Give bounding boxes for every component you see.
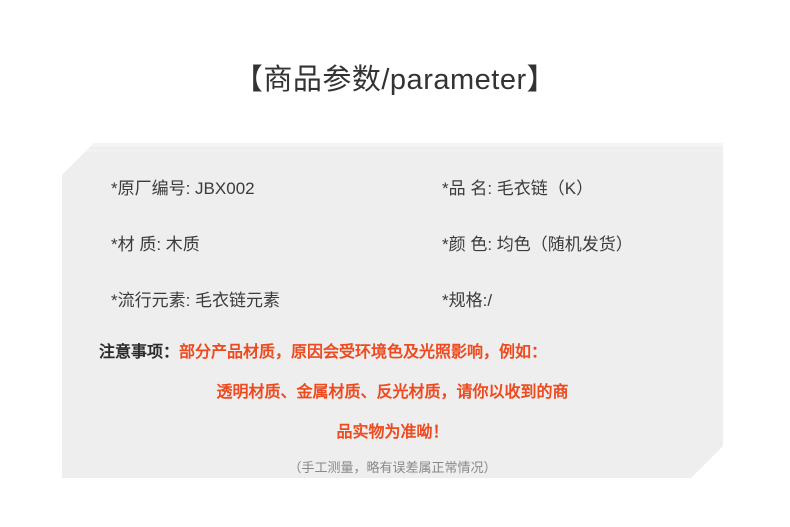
notice-text-line-1: 部分产品材质，原因会受环境色及光照影响，例如： — [179, 344, 547, 361]
product-parameter-page: 【商品参数/parameter】 *原厂编号: JBX002 *品 名: 毛衣链… — [0, 0, 790, 527]
notice-text-line-2: 透明材质、金属材质、反光材质，请你以收到的商 — [62, 373, 723, 413]
measurement-disclaimer: （手工测量，略有误差属正常情况） — [62, 457, 723, 479]
notice-label: 注意事项： — [99, 344, 179, 361]
spec-manufacturer-number: *原厂编号: JBX002 — [111, 177, 255, 201]
notice-text-line-3: 品实物为准呦！ — [62, 413, 723, 453]
spec-popular-element: *流行元素: 毛衣链元素 — [111, 289, 280, 313]
specification-grid: *原厂编号: JBX002 *品 名: 毛衣链（K） *材 质: 木质 *颜 色… — [62, 143, 723, 329]
spec-product-name: *品 名: 毛衣链（K） — [442, 177, 593, 201]
page-title: 【商品参数/parameter】 — [0, 58, 790, 102]
spec-color: *颜 色: 均色（随机发货） — [442, 233, 633, 257]
spec-material: *材 质: 木质 — [111, 233, 200, 257]
notice-block: 注意事项：部分产品材质，原因会受环境色及光照影响，例如： 透明材质、金属材质、反… — [62, 333, 723, 479]
parameter-card: *原厂编号: JBX002 *品 名: 毛衣链（K） *材 质: 木质 *颜 色… — [62, 143, 723, 478]
spec-specification: *规格:/ — [442, 289, 492, 313]
notice-line-1: 注意事项：部分产品材质，原因会受环境色及光照影响，例如： — [62, 333, 723, 373]
